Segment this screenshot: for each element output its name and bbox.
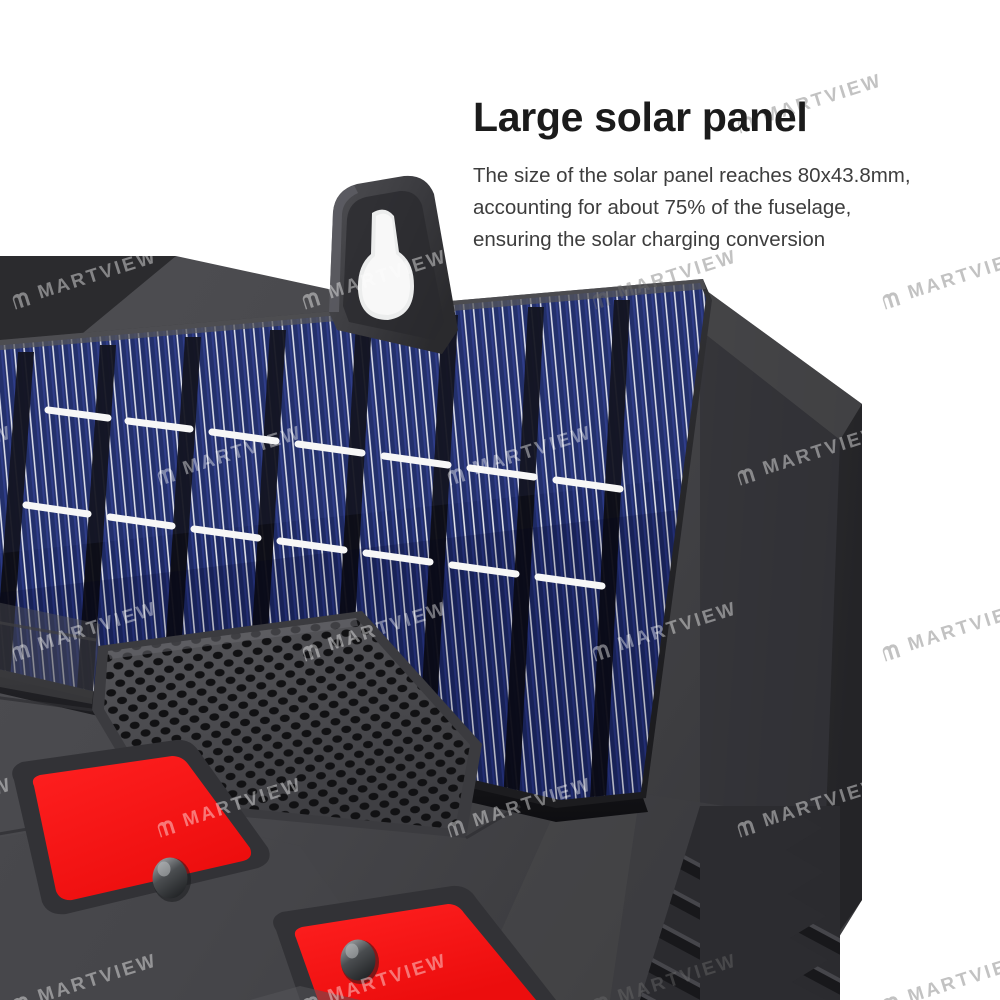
marketing-copy: Large solar panel The size of the solar … xyxy=(473,92,993,256)
description-text: The size of the solar panel reaches 80x4… xyxy=(473,160,993,256)
hanging-tab xyxy=(329,176,458,354)
page-title: Large solar panel xyxy=(473,92,993,142)
description-line-2: accounting for about 75% of the fuselage… xyxy=(473,192,993,224)
description-line-3: ensuring the solar charging conversion xyxy=(473,224,993,256)
description-line-1: The size of the solar panel reaches 80x4… xyxy=(473,160,993,192)
product-marketing-image: MARTVIEWMARTVIEWMARTVIEWMARTVIEWMARTVIEW… xyxy=(0,0,1000,1000)
